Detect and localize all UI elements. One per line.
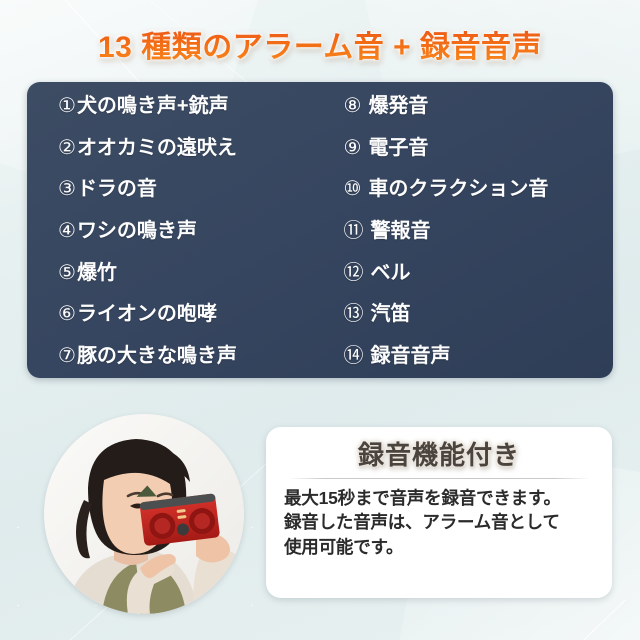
alarm-item-label: 電子音: [368, 138, 428, 158]
product-lifestyle-photo: [44, 414, 244, 614]
alarm-list-right-column: ⑧爆発音⑨電子音⑩車のクラクション音⑪警報音⑫ベル⑬汽笛⑭録音音声: [328, 96, 614, 366]
photo-illustration: [44, 414, 244, 614]
alarm-item-number: ⑧: [344, 96, 362, 116]
page-title: 13 種類のアラーム音 + 録音音声: [0, 22, 640, 66]
alarm-item-left-5: ⑤爆竹: [58, 263, 328, 283]
card-divider: [288, 478, 590, 479]
alarm-item-right-7: ⑭録音音声: [344, 346, 614, 366]
headline-wrapper: 13 種類のアラーム音 + 録音音声 13 種類のアラーム音 + 録音音声: [0, 0, 640, 78]
alarm-item-number: ⑫: [344, 263, 364, 283]
alarm-item-label: ライオンの咆哮: [77, 304, 217, 324]
alarm-item-number: ⑩: [344, 179, 362, 199]
alarm-item-left-3: ③ドラの音: [58, 179, 328, 199]
alarm-item-number: ③: [58, 179, 76, 199]
alarm-item-number: ④: [58, 221, 76, 241]
alarm-item-label: 警報音: [371, 221, 431, 241]
alarm-item-label: 汽笛: [371, 304, 411, 324]
alarm-item-label: 豚の大きな鳴き声: [77, 346, 237, 366]
card-body-line-2: 録音した音声は、アラーム音として: [284, 510, 594, 535]
alarm-item-number: ②: [58, 138, 76, 158]
alarm-item-left-7: ⑦豚の大きな鳴き声: [58, 346, 328, 366]
alarm-item-number: ⑤: [58, 263, 76, 283]
alarm-item-left-2: ②オオカミの遠吠え: [58, 138, 328, 158]
alarm-item-label: 録音音声: [371, 346, 451, 366]
alarm-item-number: ⑬: [344, 304, 364, 324]
alarm-item-right-2: ⑨電子音: [344, 138, 614, 158]
alarm-item-right-6: ⑬汽笛: [344, 304, 614, 324]
alarm-item-label: オオカミの遠吠え: [77, 138, 237, 158]
alarm-item-right-4: ⑪警報音: [344, 221, 614, 241]
alarm-item-label: ワシの鳴き声: [77, 221, 197, 241]
alarm-item-number: ⑦: [58, 346, 76, 366]
alarm-item-label: ベル: [371, 263, 411, 283]
recording-feature-card: 録音機能付き 最大15秒まで音声を録音できます。 録音した音声は、アラーム音とし…: [266, 427, 612, 598]
alarm-item-left-4: ④ワシの鳴き声: [58, 221, 328, 241]
alarm-sound-panel: ①犬の鳴き声+銃声②オオカミの遠吠え③ドラの音④ワシの鳴き声⑤爆竹⑥ライオンの咆…: [27, 82, 613, 378]
alarm-item-number: ⑨: [344, 138, 362, 158]
infographic-page: 13 種類のアラーム音 + 録音音声 13 種類のアラーム音 + 録音音声 ①犬…: [0, 0, 640, 640]
alarm-item-left-1: ①犬の鳴き声+銃声: [58, 96, 328, 116]
alarm-list-left-column: ①犬の鳴き声+銃声②オオカミの遠吠え③ドラの音④ワシの鳴き声⑤爆竹⑥ライオンの咆…: [27, 96, 328, 366]
card-title: 録音機能付き: [284, 439, 594, 472]
alarm-item-number: ⑪: [344, 221, 364, 241]
alarm-item-number: ①: [58, 96, 76, 116]
alarm-item-right-5: ⑫ベル: [344, 263, 614, 283]
alarm-item-right-1: ⑧爆発音: [344, 96, 614, 116]
alarm-item-number: ⑥: [58, 304, 76, 324]
card-body: 最大15秒まで音声を録音できます。 録音した音声は、アラーム音として 使用可能で…: [284, 486, 594, 561]
alarm-item-label: 爆発音: [368, 96, 428, 116]
alarm-item-label: 犬の鳴き声+銃声: [77, 96, 229, 116]
alarm-item-label: 車のクラクション音: [368, 179, 548, 199]
alarm-item-right-3: ⑩車のクラクション音: [344, 179, 614, 199]
card-body-line-3: 使用可能です。: [284, 535, 594, 560]
card-body-line-1: 最大15秒まで音声を録音できます。: [284, 486, 594, 511]
alarm-item-number: ⑭: [344, 346, 364, 366]
alarm-item-label: 爆竹: [77, 263, 117, 283]
alarm-item-left-6: ⑥ライオンの咆哮: [58, 304, 328, 324]
alarm-item-label: ドラの音: [77, 179, 157, 199]
